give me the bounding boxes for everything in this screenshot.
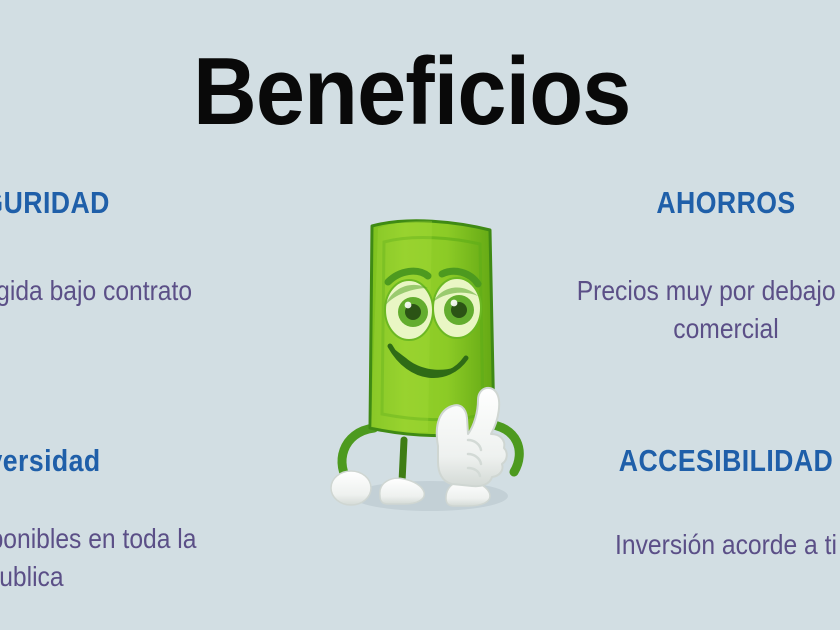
benefit-body-line: comercial [576,310,840,348]
benefit-body-seguridad: protegida bajo contrato [0,272,192,310]
benefit-body-line: Disponibles en toda la [0,520,196,558]
mascot-left-eye-glint [405,302,412,309]
benefit-block-diversidad: Diversidad Disponibles en toda la Republ… [0,444,230,596]
benefit-heading-ahorros: AHORROS [580,186,840,220]
benefit-block-seguridad: SEGURIDAD protegida bajo contrato [0,186,226,310]
benefit-body-line: Republica [0,558,196,596]
benefit-heading-diversidad: Diversidad [0,444,192,478]
benefit-heading-accesibilidad: ACCESIBILIDAD [580,444,840,478]
benefit-block-ahorros: AHORROS Precios muy por debajo del comer… [556,186,840,348]
page-title: Beneficios [25,44,798,140]
mascot-right-eye-glint [451,300,458,307]
benefit-body-ahorros: Precios muy por debajo del comercial [576,272,840,348]
benefit-body-line: Inversión acorde a ti [576,526,840,564]
mascot-left-hand [331,471,371,505]
benefit-heading-seguridad: SEGURIDAD [0,186,187,220]
benefit-body-accesibilidad: Inversión acorde a ti [576,526,840,564]
benefit-body-line: Precios muy por debajo del [576,272,840,310]
money-bill-character-icon [318,196,542,526]
benefit-body-diversidad: Disponibles en toda la Republica [0,520,196,596]
mascot-left-leg [402,440,404,482]
benefits-slide: Beneficios SEGURIDAD protegida bajo cont… [0,0,840,630]
benefit-block-accesibilidad: ACCESIBILIDAD Inversión acorde a ti [556,444,840,564]
benefit-body-line: protegida bajo contrato [0,272,192,310]
